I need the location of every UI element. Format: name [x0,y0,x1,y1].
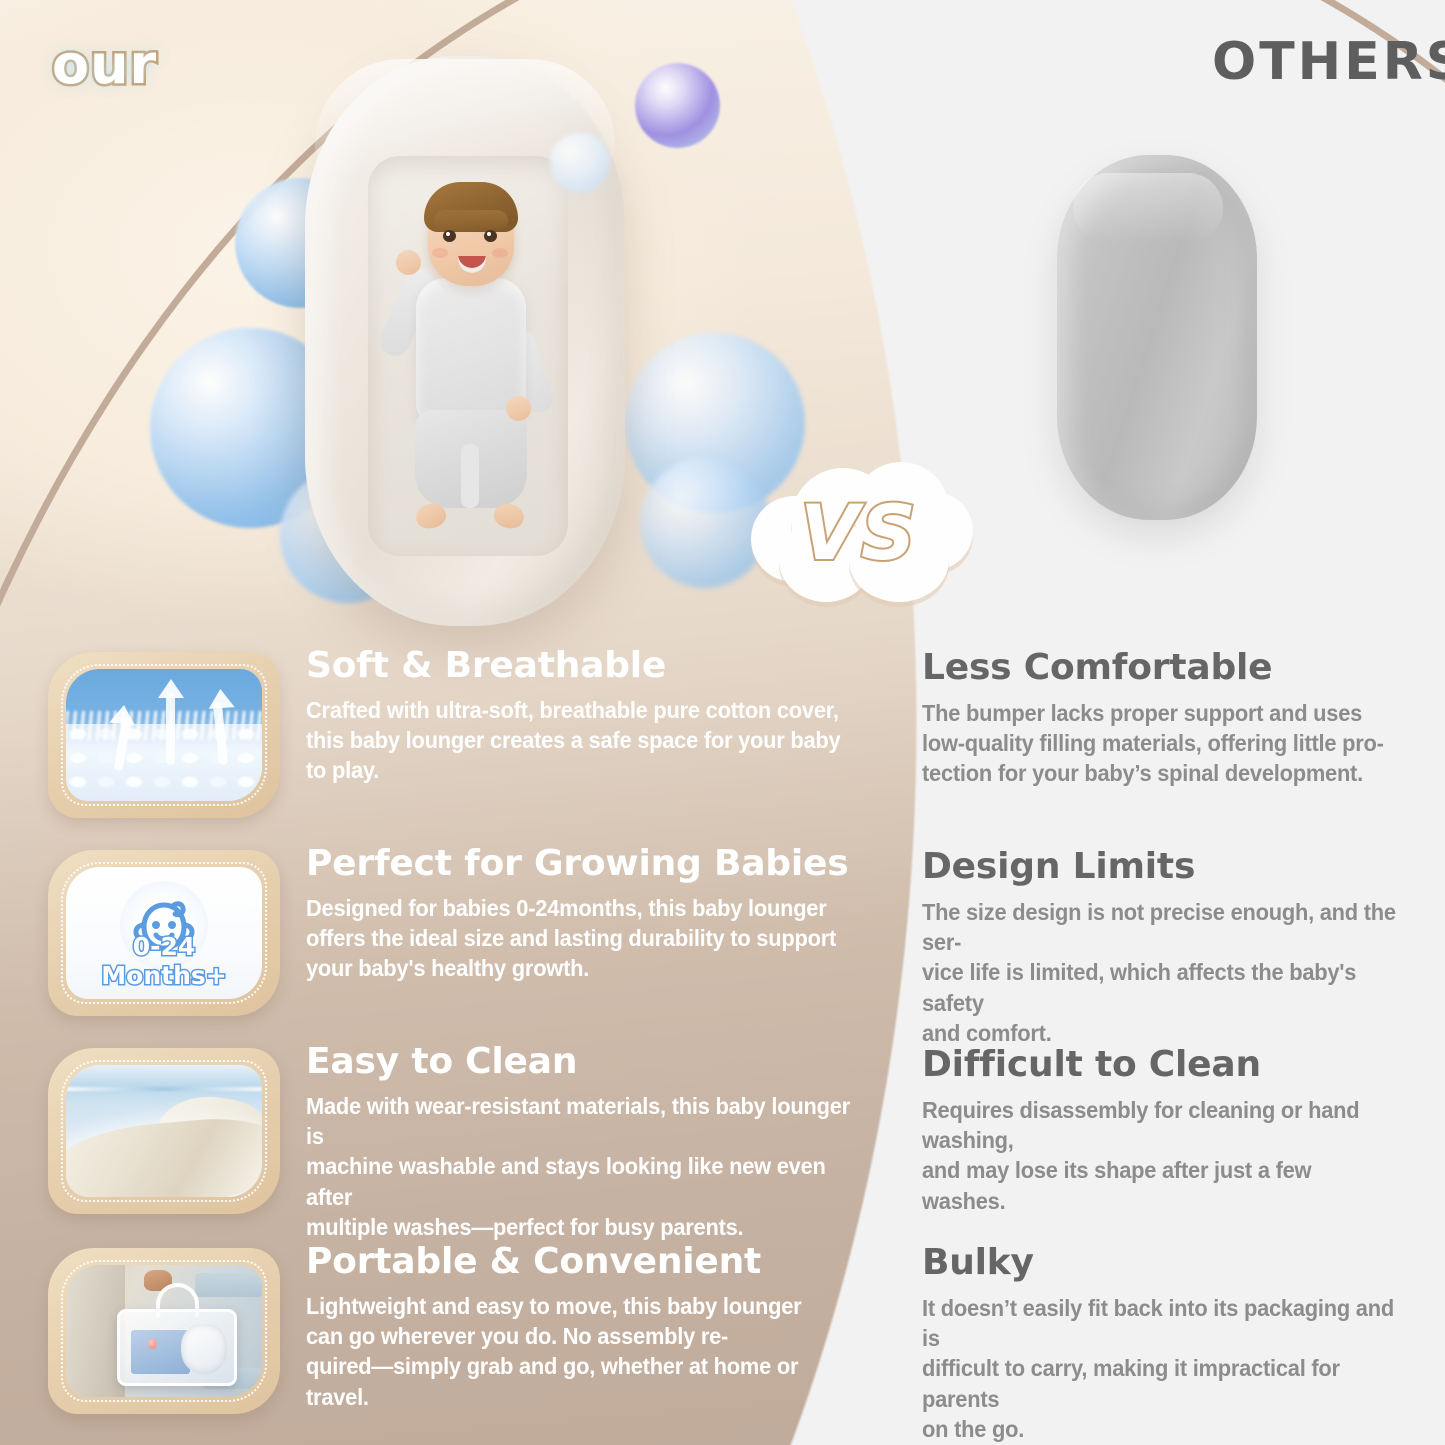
other-lounger-body [1057,155,1257,520]
con-row-less-comfortable: Less Comfortable The bumper lacks proper… [922,648,1432,789]
baby-pants [415,410,527,508]
decorative-bubble-icon [550,133,610,193]
fabric-fold-front [66,1113,262,1197]
airflow-arrow-head [109,704,137,726]
breathable-fabric-airflow-icon [48,652,280,818]
transparent-bag [117,1309,237,1386]
airflow-arrow-head [207,688,234,709]
con-body: It doesn’t easily fit back into its pack… [922,1293,1396,1445]
feature-text-block: Soft & Breathable Crafted with ultra-sof… [306,646,906,786]
portable-carry-bag-icon [48,1248,280,1414]
age-badge-label: 0-24 Months+ [66,932,262,990]
packed-lounger [181,1324,226,1374]
airflow-arrow-head [158,679,184,698]
feature-title: Portable & Convenient [306,1242,906,1282]
con-row-bulky: Bulky It doesn’t easily fit back into it… [922,1243,1432,1444]
con-title: Less Comfortable [922,648,1432,688]
baby-face-age-badge-icon: 0-24 Months+ [48,850,280,1016]
baby-cheek-left [432,248,448,258]
background-curtain [66,1265,125,1397]
others-label: OTHERS [1212,32,1445,92]
con-title: Bulky [922,1243,1432,1283]
vs-label: VS [745,488,973,577]
thumb-image [66,1265,262,1397]
fuzz-texture [66,711,262,740]
thumb-image [66,669,262,801]
feature-title: Perfect for Growing Babies [306,844,906,884]
con-body: Requires disassembly for cleaning or han… [922,1095,1396,1216]
feature-text-block: Perfect for Growing Babies Designed for … [306,844,906,984]
baby-hair [424,182,518,232]
feature-body: Made with wear-resistant materials, this… [306,1091,864,1243]
feature-title: Soft & Breathable [306,646,906,686]
baby-eye-left [443,230,456,242]
fabric-in-water-icon [48,1048,280,1214]
con-body: The bumper lacks proper support and uses… [922,698,1396,789]
feature-body: Lightweight and easy to move, this baby … [306,1291,864,1412]
con-body: The size design is not precise enough, a… [922,897,1396,1049]
con-title: Difficult to Clean [922,1045,1432,1085]
baby-cheek-right [492,248,508,258]
decorative-bubble-icon [635,63,720,148]
airflow-arrow-stem [166,693,175,765]
feature-body: Crafted with ultra-soft, breathable pure… [306,695,864,786]
baby-eye-right [484,230,497,242]
feature-text-block: Portable & Convenient Lightweight and ea… [306,1242,906,1412]
comparison-infographic: our OTHERS [0,0,1445,1445]
background-shelf [195,1273,262,1297]
con-row-design-limits: Design Limits The size design is not pre… [922,847,1432,1048]
thumb-frame [61,1260,267,1402]
water-surface-line [66,1087,262,1091]
baby-illustration [388,178,553,538]
con-title: Design Limits [922,847,1432,887]
feature-body: Designed for babies 0-24months, this bab… [306,893,864,984]
thumb-frame: 0-24 Months+ [61,862,267,1004]
thumb-frame [61,664,267,806]
thumb-image: 0-24 Months+ [66,867,262,999]
thumb-frame [61,1060,267,1202]
feature-title: Easy to Clean [306,1042,906,1082]
thumb-image [66,1065,262,1197]
baby-fist-right [506,396,531,421]
toy-ball-icon [148,1339,157,1349]
vs-badge: VS [745,462,973,602]
baby-fist-left [396,250,421,275]
feature-text-block: Easy to Clean Made with wear-resistant m… [306,1042,906,1242]
con-row-difficult-clean: Difficult to Clean Requires disassembly … [922,1045,1432,1216]
our-product-hero [130,28,810,638]
